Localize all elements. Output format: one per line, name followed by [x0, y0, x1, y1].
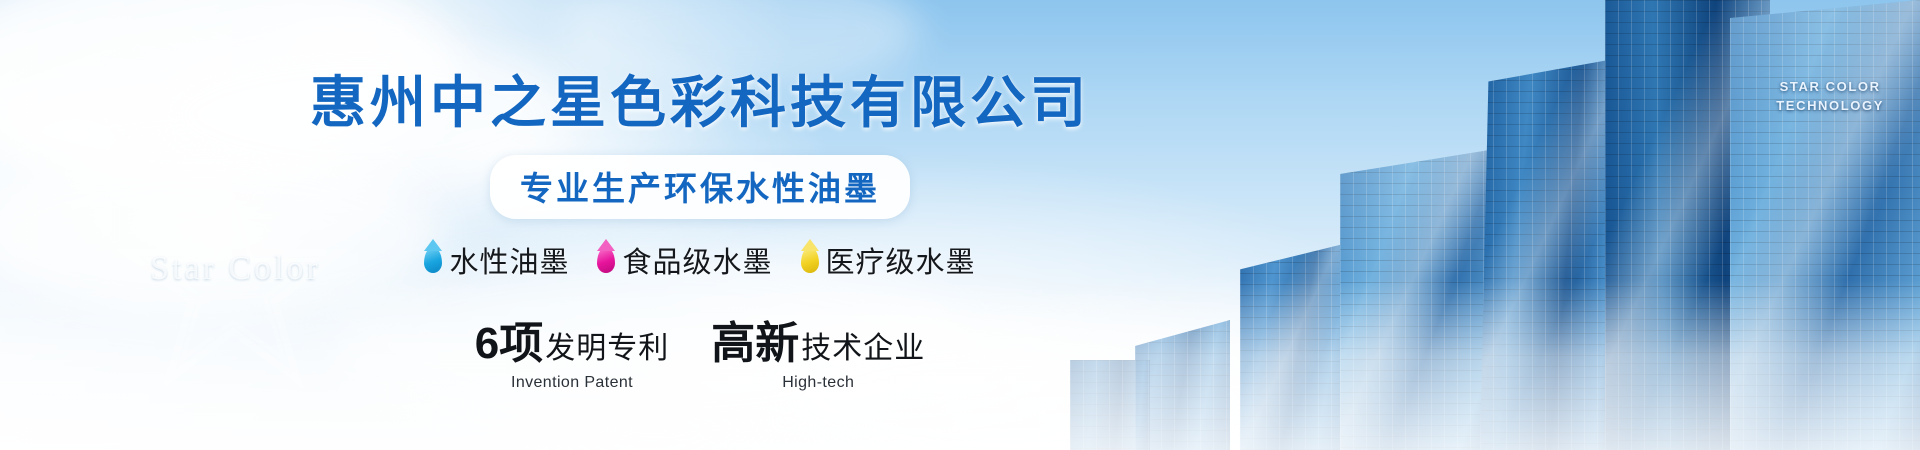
product-tag-label: 食品级水墨: [622, 239, 772, 281]
credential-list: 6项 发明专利 Invention Patent 高新 技术企业 High-te…: [475, 307, 925, 392]
company-title: 惠州中之星色彩科技有限公司: [310, 58, 1090, 139]
brand-plate-line2: TECHNOLOGY: [1776, 97, 1884, 116]
banner-content: 惠州中之星色彩科技有限公司 专业生产环保水性油墨 水性油墨 食品级水墨 医疗级水…: [0, 0, 1400, 450]
subtitle-text: 专业生产环保水性油墨: [520, 170, 880, 207]
brand-plate: STAR COLOR TECHNOLOGY: [1776, 78, 1884, 116]
credential-invention-patent: 6项 发明专利 Invention Patent: [475, 307, 669, 392]
credential-english: Invention Patent: [511, 374, 633, 392]
product-tag-water-based-ink: 水性油墨: [424, 239, 569, 281]
product-tag-medical-grade-ink: 医疗级水墨: [801, 239, 976, 281]
credential-chinese: 6项 发明专利: [475, 307, 669, 371]
credential-rest: 发明专利: [545, 323, 669, 367]
promotional-banner: Star Color STAR COLOR TECHNOLOGY: [0, 0, 1920, 450]
credential-english: High-tech: [782, 374, 854, 392]
credential-chinese: 高新 技术企业: [711, 307, 925, 371]
credential-highlight: 6项: [475, 307, 543, 371]
credential-rest: 技术企业: [801, 323, 925, 367]
water-drop-icon: [597, 247, 615, 273]
subtitle-pill: 专业生产环保水性油墨: [490, 155, 910, 219]
brand-plate-line1: STAR COLOR: [1776, 78, 1884, 97]
water-drop-icon: [424, 247, 442, 273]
product-tag-label: 医疗级水墨: [826, 239, 976, 281]
water-drop-icon: [801, 247, 819, 273]
product-tag-food-grade-ink: 食品级水墨: [597, 239, 772, 281]
credential-highlight: 高新: [711, 307, 799, 371]
product-tag-label: 水性油墨: [449, 239, 569, 281]
credential-high-tech: 高新 技术企业 High-tech: [711, 307, 925, 392]
product-tag-list: 水性油墨 食品级水墨 医疗级水墨: [424, 239, 975, 281]
